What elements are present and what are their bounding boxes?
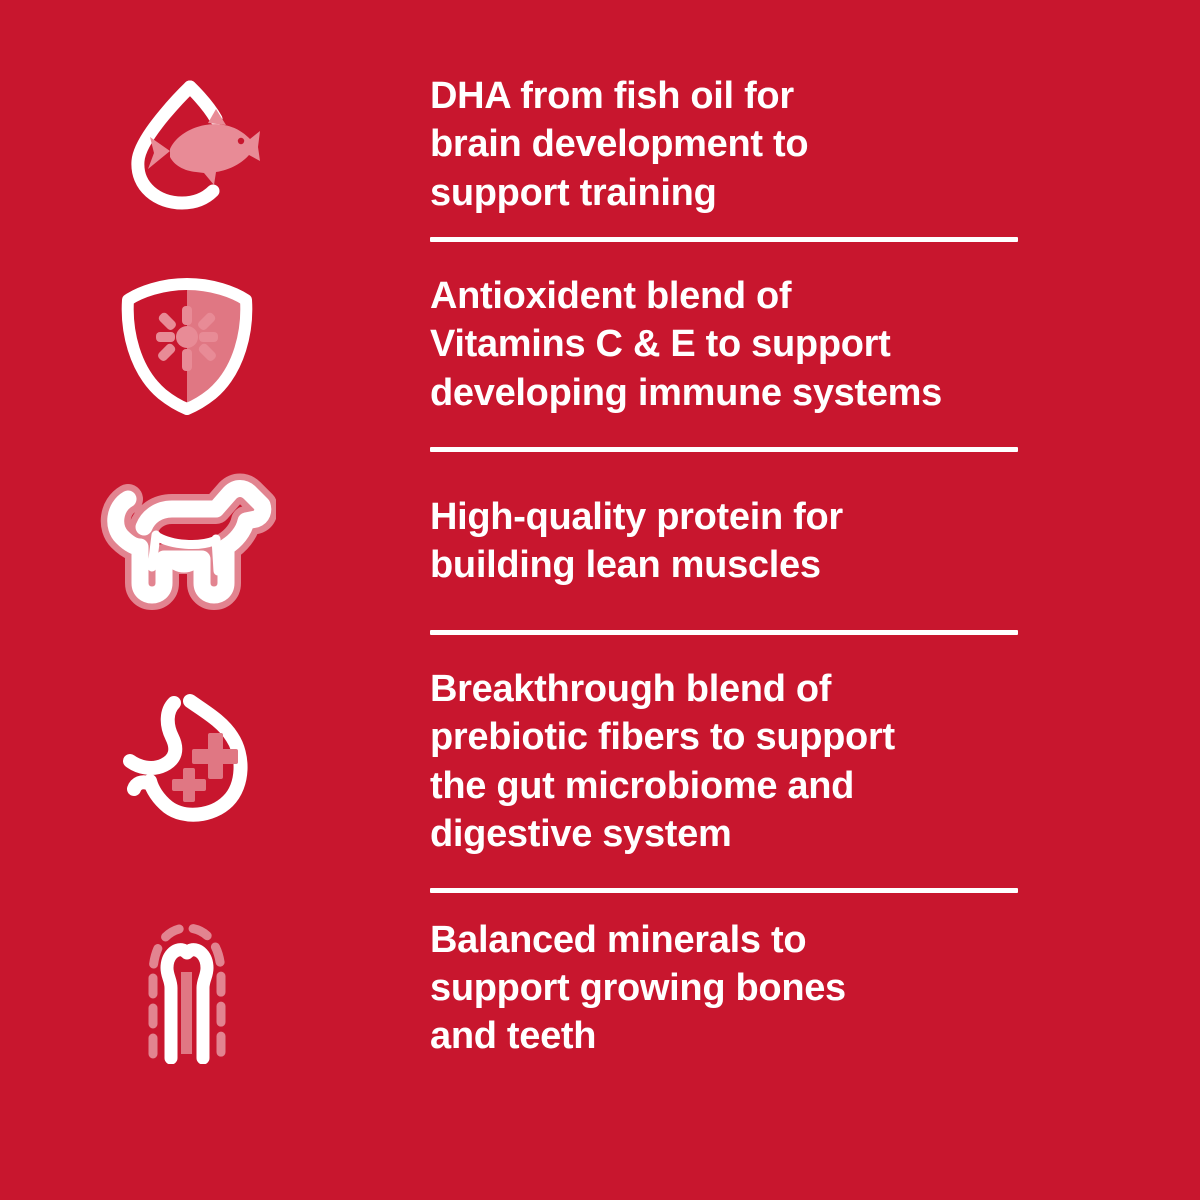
list-item: Antioxident blend of Vitamins C & E to s… xyxy=(0,242,1200,447)
bone-icon xyxy=(127,912,247,1064)
shield-burst-icon xyxy=(112,270,262,420)
text-cell: Breakthrough blend of prebiotic fibers t… xyxy=(430,665,1200,858)
shield-burst-icon-cell xyxy=(0,270,430,420)
section-divider xyxy=(430,447,1018,452)
fish-droplet-icon-cell xyxy=(0,75,430,215)
divider-spacer xyxy=(0,447,430,452)
text-cell: Balanced minerals to support growing bon… xyxy=(430,916,1200,1061)
list-item: DHA from fish oil for brain development … xyxy=(0,52,1200,237)
section-divider xyxy=(430,630,1018,635)
benefit-text: Breakthrough blend of prebiotic fibers t… xyxy=(430,665,1040,858)
text-cell: Antioxident blend of Vitamins C & E to s… xyxy=(430,272,1200,417)
benefit-list: DHA from fish oil for brain development … xyxy=(0,52,1200,1083)
fish-droplet-icon xyxy=(112,75,262,215)
text-cell: High-quality protein for building lean m… xyxy=(430,493,1200,590)
list-item: Breakthrough blend of prebiotic fibers t… xyxy=(0,635,1200,888)
benefit-text: Balanced minerals to support growing bon… xyxy=(430,916,1040,1061)
benefit-text: High-quality protein for building lean m… xyxy=(430,493,1040,590)
bone-icon-cell xyxy=(0,912,430,1064)
divider-spacer xyxy=(0,630,430,635)
section-divider xyxy=(430,237,1018,242)
benefits-panel: DHA from fish oil for brain development … xyxy=(0,0,1200,1200)
dog-muscle-icon xyxy=(98,471,276,611)
divider-spacer xyxy=(0,888,430,893)
list-item: High-quality protein for building lean m… xyxy=(0,452,1200,630)
benefit-text: Antioxident blend of Vitamins C & E to s… xyxy=(430,272,1040,417)
list-item: Balanced minerals to support growing bon… xyxy=(0,893,1200,1083)
text-cell: DHA from fish oil for brain development … xyxy=(430,72,1200,217)
dog-muscle-icon-cell xyxy=(0,471,430,611)
benefit-text: DHA from fish oil for brain development … xyxy=(430,72,1040,217)
divider-spacer xyxy=(0,237,430,242)
section-divider xyxy=(430,888,1018,893)
stomach-plus-icon xyxy=(112,689,262,834)
stomach-plus-icon-cell xyxy=(0,689,430,834)
